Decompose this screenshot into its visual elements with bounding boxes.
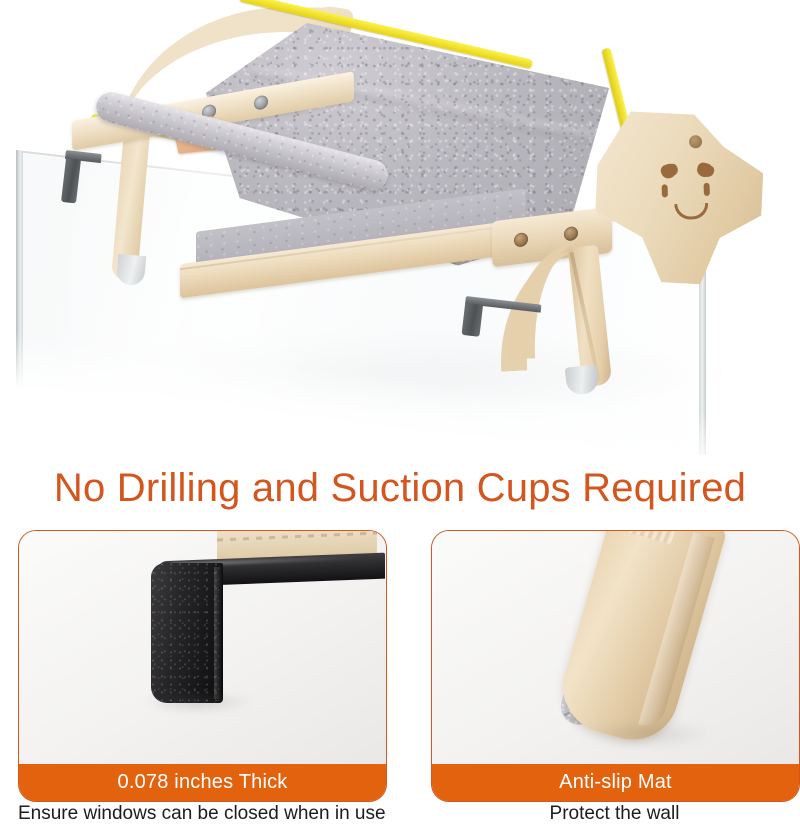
- cat-ear-right: [695, 161, 713, 179]
- feature-card-anti-slip-mat: Anti-slip Mat: [431, 530, 800, 802]
- cat-mouth: [674, 203, 709, 220]
- foot-shadow: [582, 721, 712, 747]
- wood-end-grain: [615, 531, 679, 544]
- hook-drop-leg: [462, 303, 484, 337]
- card-label-bar: 0.078 inches Thick: [19, 764, 386, 801]
- wood-grain-line: [217, 532, 377, 542]
- hero-product-photo: [0, 0, 800, 455]
- bracket-drop-leg: [151, 563, 223, 703]
- feature-cards-row: 0.078 inches Thick Anti-slip Mat: [0, 530, 800, 833]
- card-caption-left: Ensure windows can be closed when in use: [18, 803, 385, 825]
- bracket-detail-photo: [19, 531, 386, 764]
- card-label-bar: Anti-slip Mat: [432, 764, 799, 801]
- cat-eye-right: [704, 183, 710, 196]
- joint-screw: [514, 232, 528, 248]
- rail-bolt: [254, 94, 268, 110]
- headline-text: No Drilling and Suction Cups Required: [0, 466, 800, 511]
- wooden-foot-leg: [553, 531, 728, 751]
- bracket-texture: [151, 563, 223, 703]
- anti-slip-mat-detail-photo: [432, 531, 799, 764]
- cat-ear-left: [659, 162, 678, 180]
- cat-eye-left: [662, 184, 668, 197]
- card-caption-right: Protect the wall: [431, 803, 798, 825]
- bracket-shadow: [143, 691, 253, 713]
- bracket-edge-shade: [214, 567, 223, 699]
- cat-face-icon: [655, 162, 729, 226]
- feature-card-bracket-thickness: 0.078 inches Thick: [18, 530, 387, 802]
- leg-edge-shade: [638, 532, 714, 730]
